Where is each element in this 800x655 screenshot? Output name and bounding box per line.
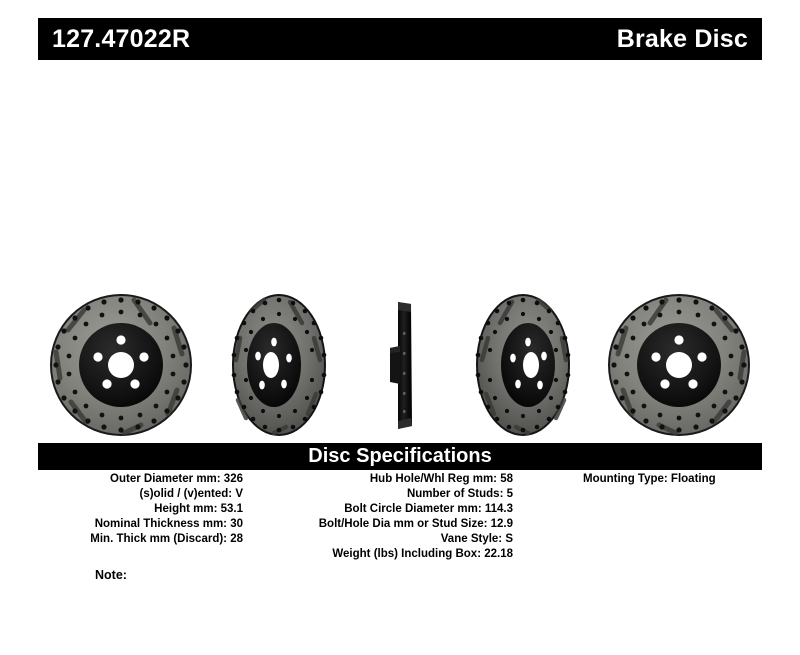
- specifications-table: Outer Diameter mm: 326 (s)olid / (v)ente…: [38, 472, 762, 582]
- spec-row: Bolt/Hole Dia mm or Stud Size: 12.9: [253, 517, 513, 532]
- spec-row: Height mm: 53.1: [38, 502, 243, 517]
- header-bar: 127.47022R Brake Disc: [38, 18, 762, 60]
- disc-specifications-bar: Disc Specifications: [38, 443, 762, 470]
- spec-row: Outer Diameter mm: 326: [38, 472, 243, 487]
- spec-row: Bolt Circle Diameter mm: 114.3: [253, 502, 513, 517]
- spec-column-middle: Hub Hole/Whl Reg mm: 58 Number of Studs:…: [253, 472, 513, 562]
- spec-row: Hub Hole/Whl Reg mm: 58: [253, 472, 513, 487]
- spec-row: Weight (lbs) Including Box: 22.18: [253, 547, 513, 562]
- note-row: Note:: [95, 568, 127, 582]
- spec-column-right: Mounting Type: Floating: [583, 472, 773, 487]
- rotor-view-three-quarter-right: [460, 290, 586, 440]
- spec-column-left: Outer Diameter mm: 326 (s)olid / (v)ente…: [38, 472, 243, 547]
- rotor-view-front-face-right: [604, 290, 754, 440]
- rotor-view-edge-profile: [378, 290, 424, 440]
- spec-row: Nominal Thickness mm: 30: [38, 517, 243, 532]
- rotor-view-three-quarter-left: [216, 290, 342, 440]
- note-label: Note:: [95, 568, 127, 582]
- page-title: Brake Disc: [617, 25, 748, 54]
- spec-sheet: 127.47022R Brake Disc: [0, 0, 800, 655]
- spec-row: Vane Style: S: [253, 532, 513, 547]
- part-number: 127.47022R: [52, 25, 190, 54]
- spec-row: Mounting Type: Floating: [583, 472, 773, 487]
- spec-row: (s)olid / (v)ented: V: [38, 487, 243, 502]
- spec-row: Number of Studs: 5: [253, 487, 513, 502]
- disc-specifications-title: Disc Specifications: [308, 445, 491, 468]
- product-image-row: [38, 290, 762, 440]
- spec-row: Min. Thick mm (Discard): 28: [38, 532, 243, 547]
- rotor-view-front-face-left: [46, 290, 196, 440]
